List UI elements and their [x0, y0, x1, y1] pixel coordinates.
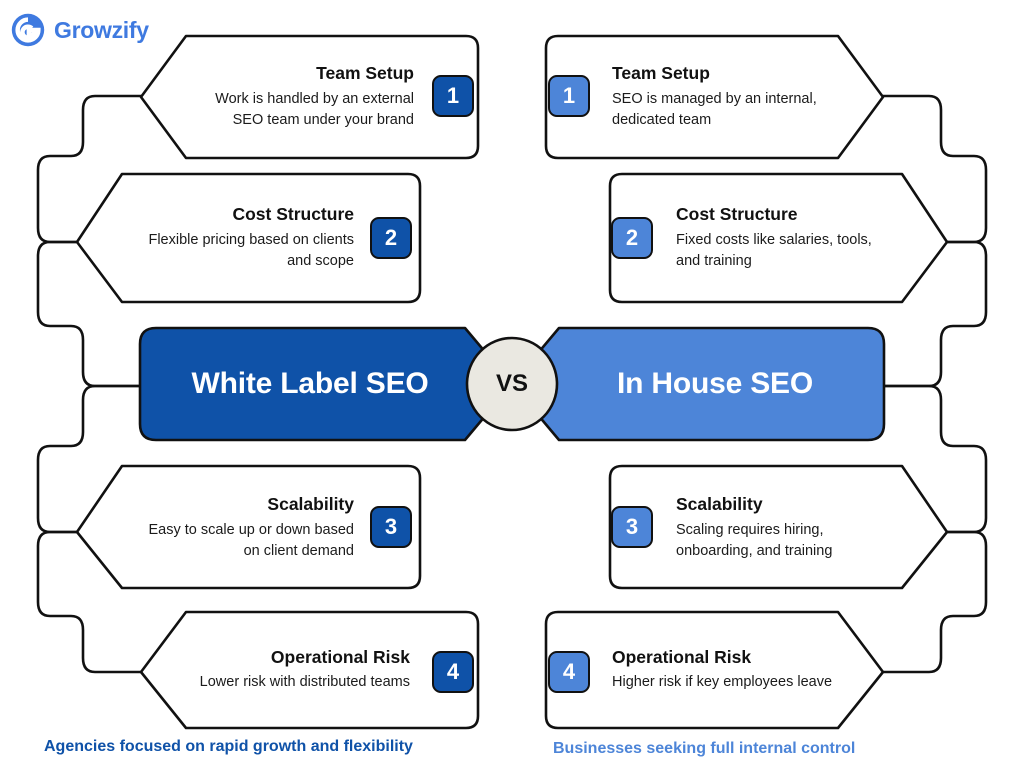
- card-left-1-description: Work is handled by an external SEO team …: [196, 89, 414, 131]
- card-right-2-title: Cost Structure: [676, 204, 798, 226]
- card-left-1: Team Setup Work is handled by an externa…: [196, 46, 414, 148]
- card-left-2-badge: 2: [370, 217, 412, 259]
- card-right-1-title: Team Setup: [612, 63, 710, 85]
- card-right-1-description: SEO is managed by an internal, dedicated…: [612, 89, 834, 131]
- card-left-3-title: Scalability: [267, 494, 354, 516]
- card-left-4-badge: 4: [432, 651, 474, 693]
- card-left-3: Scalability Easy to scale up or down bas…: [140, 480, 354, 576]
- card-right-4: Operational Risk Higher risk if key empl…: [612, 624, 842, 716]
- card-left-4-title: Operational Risk: [271, 647, 410, 669]
- infographic-canvas: Growzify Team: [0, 0, 1024, 768]
- card-left-2-description: Flexible pricing based on clients and sc…: [140, 230, 354, 272]
- card-right-3-badge: 3: [611, 506, 653, 548]
- card-right-2-badge: 2: [611, 217, 653, 259]
- card-left-1-title: Team Setup: [316, 63, 414, 85]
- card-right-4-description: Higher risk if key employees leave: [612, 672, 832, 693]
- right-footer-note: Businesses seeking full internal control: [553, 740, 855, 758]
- left-footer-note: Agencies focused on rapid growth and fle…: [44, 738, 413, 756]
- card-left-2: Cost Structure Flexible pricing based on…: [140, 190, 354, 286]
- card-left-4: Operational Risk Lower risk with distrib…: [196, 624, 410, 716]
- card-left-4-description: Lower risk with distributed teams: [200, 672, 410, 693]
- card-left-2-title: Cost Structure: [232, 204, 354, 226]
- card-left-1-badge: 1: [432, 75, 474, 117]
- card-left-3-badge: 3: [370, 506, 412, 548]
- card-right-4-title: Operational Risk: [612, 647, 751, 669]
- card-right-4-badge: 4: [548, 651, 590, 693]
- vs-label: VS: [469, 341, 555, 427]
- card-left-3-description: Easy to scale up or down based on client…: [140, 520, 354, 562]
- card-right-1: Team Setup SEO is managed by an internal…: [612, 46, 834, 148]
- card-right-2: Cost Structure Fixed costs like salaries…: [676, 190, 898, 286]
- card-right-1-badge: 1: [548, 75, 590, 117]
- card-right-3-title: Scalability: [676, 494, 763, 516]
- left-banner-label: White Label SEO: [165, 360, 455, 408]
- card-right-2-description: Fixed costs like salaries, tools, and tr…: [676, 230, 898, 272]
- right-banner-label: In House SEO: [570, 360, 860, 408]
- card-right-3: Scalability Scaling requires hiring, onb…: [676, 480, 898, 576]
- card-right-3-description: Scaling requires hiring, onboarding, and…: [676, 520, 898, 562]
